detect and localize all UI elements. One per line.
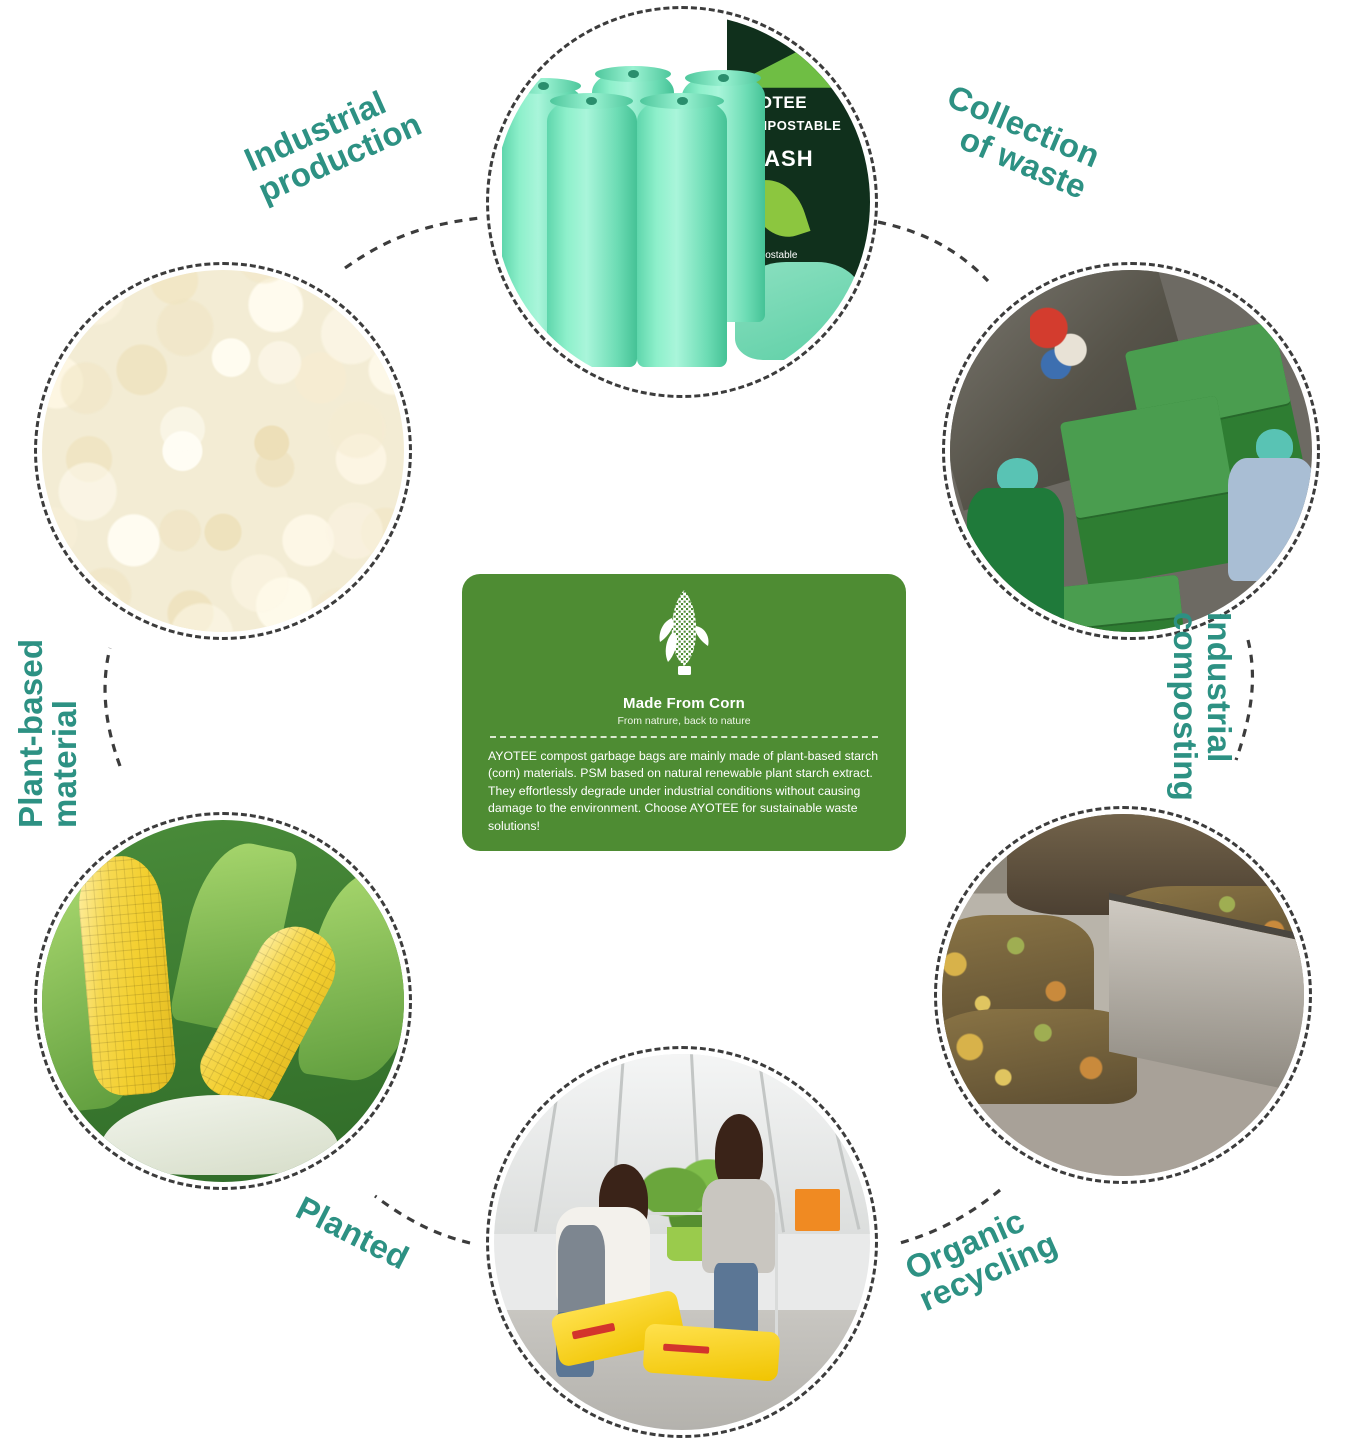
card-body-text: AYOTEE compost garbage bags are mainly m… <box>488 748 880 835</box>
card-tagline: From natrure, back to nature <box>488 715 880 727</box>
connector-material-to-production <box>345 218 480 268</box>
node-collection-of-waste[interactable] <box>942 262 1320 640</box>
bag-roll <box>637 97 727 368</box>
node-corn-crop[interactable] <box>34 812 412 1190</box>
lifecycle-diagram: AYOTEE COMPOSTABLE TRASH Compostable <box>0 0 1365 1444</box>
corn-cobs-image <box>42 820 404 1182</box>
orange-sign <box>795 1189 840 1230</box>
made-from-corn-card: Made From Corn From natrure, back to nat… <box>462 574 906 851</box>
label-collection-of-waste: Collection of waste <box>929 79 1104 205</box>
node-industrial-production[interactable]: AYOTEE COMPOSTABLE TRASH Compostable <box>486 6 878 398</box>
worker-blue-uniform <box>1218 429 1312 581</box>
compost-facility-image <box>942 814 1304 1176</box>
loose-trash <box>1030 306 1088 378</box>
green-bag-rolls-image: AYOTEE COMPOSTABLE TRASH Compostable <box>494 14 870 390</box>
corn-icon <box>488 588 880 693</box>
card-divider <box>490 736 878 738</box>
green-waste-bins-image <box>950 270 1312 632</box>
label-planted: Planted <box>291 1190 414 1275</box>
label-industrial-production: Industrial production <box>240 76 427 210</box>
label-industrial-composting: Industrial composting <box>1167 612 1236 801</box>
connector-production-to-collection <box>878 222 988 281</box>
garden-center-image <box>494 1054 870 1430</box>
node-industrial-composting[interactable] <box>934 806 1312 1184</box>
customer-person <box>697 1114 780 1347</box>
card-title: Made From Corn <box>488 695 880 712</box>
soil-bag <box>643 1324 781 1382</box>
worker-green-uniform <box>957 458 1073 632</box>
resin-pellets-image <box>42 270 404 632</box>
waste-bin <box>1055 575 1185 632</box>
connector-planted-to-material <box>105 648 120 766</box>
node-planted[interactable] <box>486 1046 878 1438</box>
bag-roll <box>547 97 637 368</box>
connector-collection-to-composting <box>1236 640 1252 760</box>
label-plant-based-material: Plant-based material <box>14 639 83 828</box>
label-organic-recycling: Organic recycling <box>900 1195 1062 1317</box>
node-plant-based-material[interactable] <box>34 262 412 640</box>
